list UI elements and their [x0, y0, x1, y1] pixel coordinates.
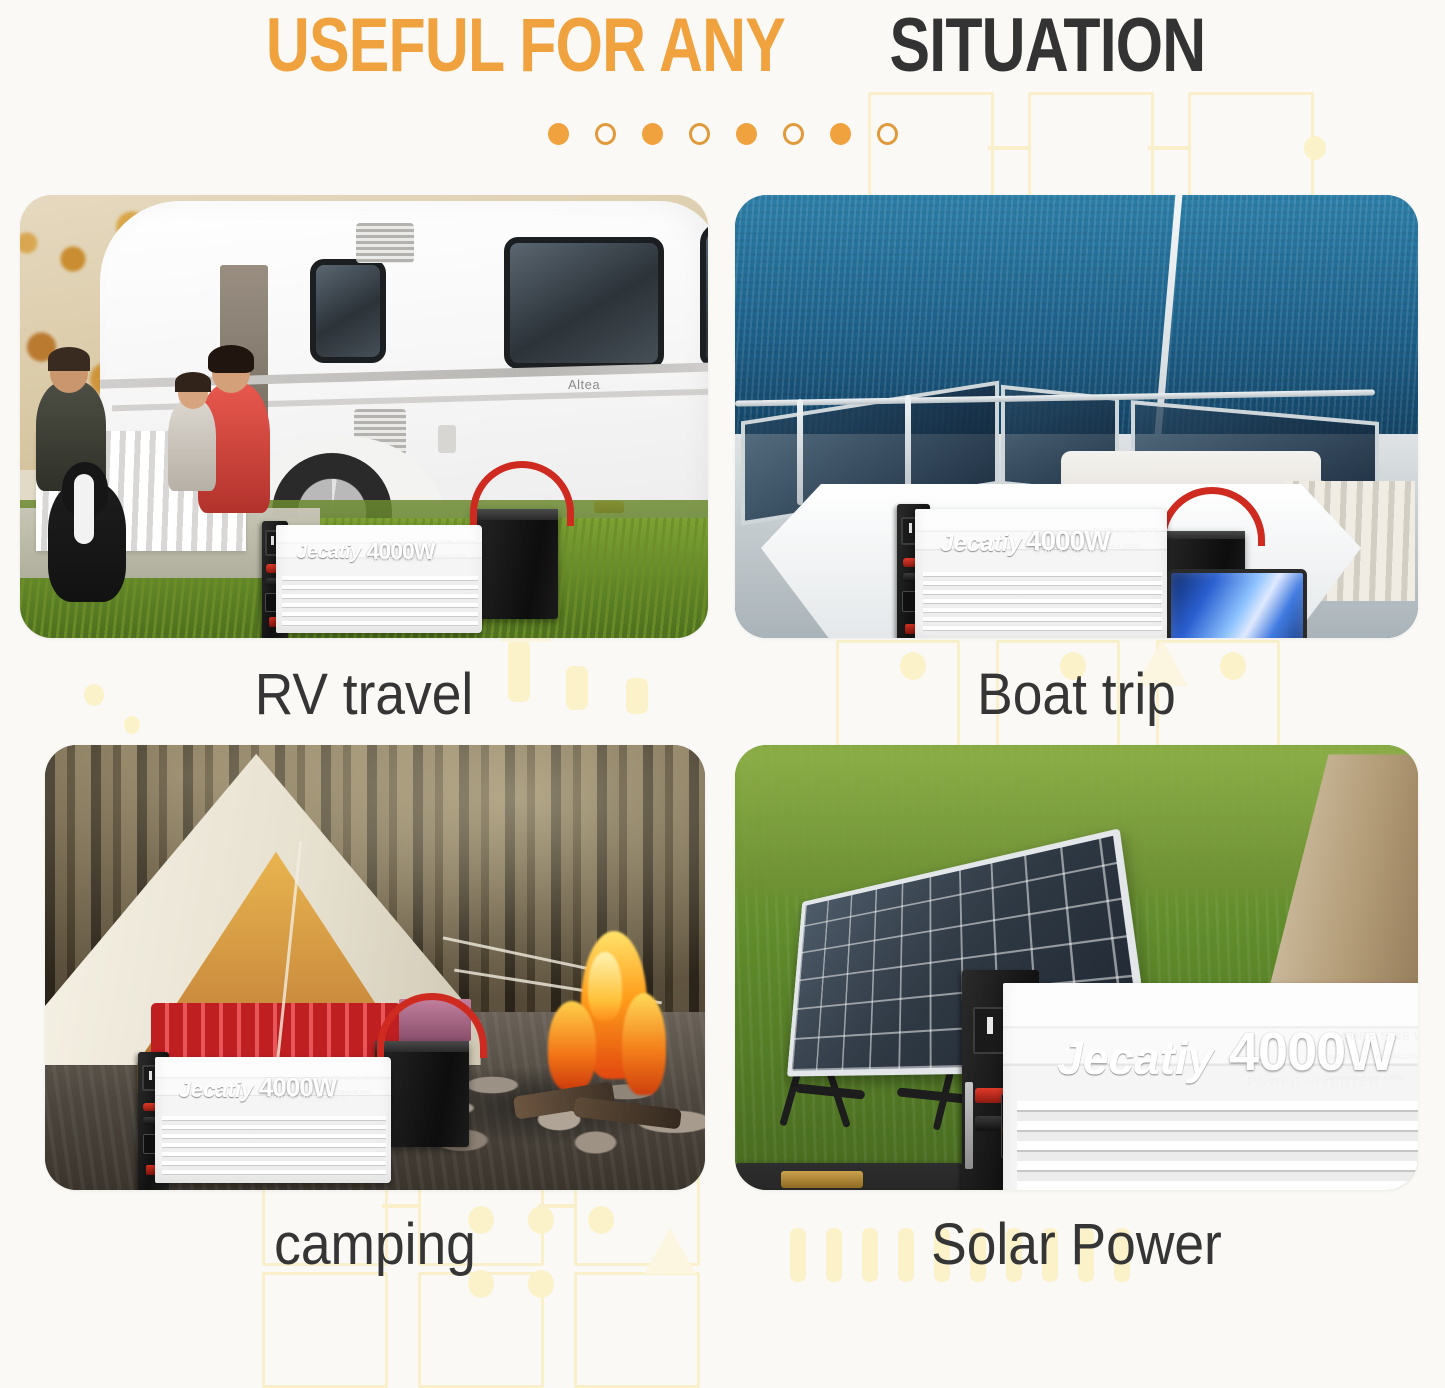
battery-pack [735, 1163, 963, 1190]
separator-dot-filled [736, 123, 757, 145]
caravan-model-badge: Altea [568, 377, 600, 392]
inverter-brand: Jecatiy [179, 1077, 254, 1103]
inverter-brand: Jecatiy [1057, 1031, 1213, 1085]
caption-camping: camping [71, 1216, 678, 1274]
dot-separator [0, 122, 1445, 146]
scenario-card-solar-power: 230 0.00 Jecatiy 4000W POWER INVERTER PU… [735, 745, 1418, 1190]
page-title: USEFUL FOR ANY SITUATION [0, 0, 1445, 94]
separator-dot-filled [642, 123, 663, 145]
inverter-heat-fins [162, 1116, 386, 1175]
laptop-screen [1167, 569, 1307, 638]
inverter-spec-line: Input: DC12V Output: AC120V [304, 1090, 384, 1098]
inverter-rv: Jecatiy 4000W POWER INVERTER PURE SINE W… [276, 525, 482, 633]
inverter-heat-fins [923, 572, 1162, 635]
dog [48, 482, 126, 602]
inverter-fuse [965, 1082, 973, 1169]
inverter-spec-line: Input: DC12V Output: AC120V [1324, 1053, 1418, 1064]
separator-dot-hollow [689, 123, 710, 145]
inverter-spec-line: Input: DC12V Output: AC120V [1074, 544, 1160, 552]
scenario-card-rv-travel: Altea [20, 195, 708, 638]
photo-camping: Jecatiy 4000W POWER INVERTER PURE SINE W… [45, 745, 705, 1190]
separator-dot-hollow [595, 123, 616, 145]
inverter-heat-fins [1017, 1101, 1418, 1190]
inverter-camping: Jecatiy 4000W POWER INVERTER PURE SINE W… [155, 1057, 391, 1183]
photo-boat-trip: Jecatiy 4000W POWER INVERTER PURE SINE W… [735, 195, 1418, 638]
scenario-card-camping: Jecatiy 4000W POWER INVERTER PURE SINE W… [45, 745, 705, 1190]
inverter-solar: 230 0.00 Jecatiy 4000W POWER INVERTER PU… [1003, 983, 1418, 1190]
caption-boat-trip: Boat trip [762, 666, 1390, 724]
separator-dot-hollow [877, 123, 898, 145]
inverter-wave-label: PURE SINE WAVE [1093, 528, 1160, 535]
separator-dot-filled [548, 123, 569, 145]
laptop [1167, 569, 1299, 638]
photo-rv-travel: Altea [20, 195, 708, 638]
scenario-card-boat-trip: Jecatiy 4000W POWER INVERTER PURE SINE W… [735, 195, 1418, 638]
person-woman-hair [208, 345, 254, 373]
photo-solar-power: 230 0.00 Jecatiy 4000W POWER INVERTER PU… [735, 745, 1418, 1190]
inverter-spec-line: Input: DC12V Output: AC120V [406, 553, 476, 560]
inverter-wave-label: PURE SINE WAVE [1341, 1029, 1418, 1043]
inverter-brand: Jecatiy [940, 530, 1021, 558]
person-child [168, 399, 216, 491]
person-man-hair [48, 347, 90, 371]
scenario-grid: Altea [0, 0, 1445, 1331]
inverter-spec-line: SIZE : 60Hz [1324, 1063, 1418, 1074]
inverter-spec-line: Continuous Power:4000W [1324, 1074, 1418, 1085]
inverter-heat-fins [282, 576, 478, 627]
caption-rv-travel: RV travel [48, 666, 681, 724]
caption-solar-power: Solar Power [762, 1216, 1390, 1274]
person-child-hair [175, 372, 211, 392]
separator-dot-filled [830, 123, 851, 145]
page-title-highlight: USEFUL FOR ANY [265, 8, 784, 84]
inverter-spec-block: Input: DC12V Output: AC120V SIZE : 60Hz … [1324, 1053, 1418, 1085]
page-title-rest: SITUATION [889, 8, 1205, 84]
inverter-wave-label: PURE SINE WAVE [418, 540, 476, 546]
campfire [507, 923, 692, 1128]
separator-dot-hollow [783, 123, 804, 145]
inverter-brand: Jecatiy [297, 542, 361, 564]
inverter-boat: Jecatiy 4000W POWER INVERTER PURE SINE W… [915, 509, 1167, 638]
inverter-wave-label: PURE SINE WAVE [321, 1075, 384, 1082]
